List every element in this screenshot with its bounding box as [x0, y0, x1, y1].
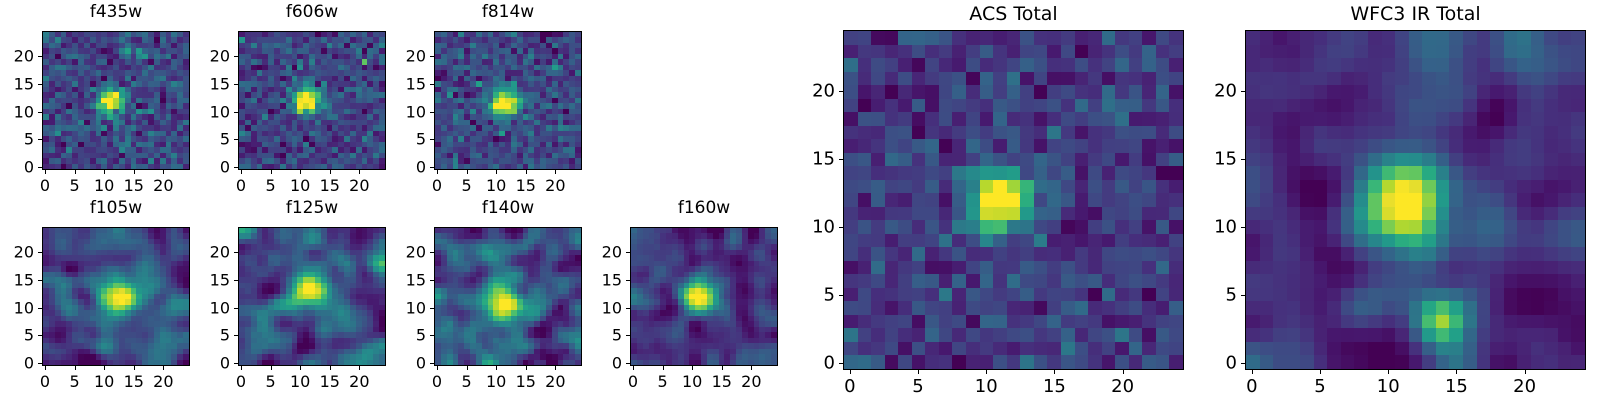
y-tick-label-f160w-10: 10: [588, 298, 622, 317]
y-tick-label-f606w-0: 0: [196, 158, 230, 177]
x-tick-label-f125w-15: 15: [320, 372, 340, 391]
y-tick-label-f105w-0: 0: [0, 354, 34, 373]
x-tick-label-f435w-20: 20: [153, 176, 173, 195]
x-tick-f125w-5: [271, 366, 272, 370]
x-tick-wfc3-ir-total-15: [1456, 370, 1457, 374]
x-tick-acs-total-10: [986, 370, 987, 374]
heatmap-axes-f606w: [238, 31, 386, 170]
panel-title-f105w: f105w: [42, 198, 190, 218]
panel-title-f160w: f160w: [630, 198, 778, 218]
y-tick-label-wfc3-ir-total-10: 10: [1203, 217, 1237, 238]
y-tick-label-f814w-10: 10: [392, 102, 426, 121]
y-tick-label-f814w-0: 0: [392, 158, 426, 177]
y-tick-f140w-10: [430, 308, 434, 309]
y-tick-label-acs-total-15: 15: [801, 149, 835, 170]
x-tick-f140w-20: [555, 366, 556, 370]
x-tick-label-f125w-20: 20: [349, 372, 369, 391]
x-tick-f814w-20: [555, 170, 556, 174]
y-tick-f125w-20: [234, 252, 238, 253]
x-tick-label-f105w-10: 10: [94, 372, 114, 391]
x-tick-f105w-20: [163, 366, 164, 370]
y-tick-f160w-15: [626, 280, 630, 281]
x-tick-acs-total-5: [918, 370, 919, 374]
panel-f435w: f435w0510152005101520: [0, 0, 190, 201]
x-tick-label-f814w-10: 10: [486, 176, 506, 195]
x-tick-f435w-20: [163, 170, 164, 174]
x-tick-f140w-15: [526, 366, 527, 370]
x-tick-label-f435w-15: 15: [124, 176, 144, 195]
x-tick-f160w-10: [692, 366, 693, 370]
heatmap-image-f125w: [239, 228, 385, 365]
y-tick-f125w-10: [234, 308, 238, 309]
x-tick-f606w-15: [330, 170, 331, 174]
y-tick-f105w-5: [38, 335, 42, 336]
y-tick-label-f435w-0: 0: [0, 158, 34, 177]
y-tick-f435w-10: [38, 112, 42, 113]
y-tick-f105w-15: [38, 280, 42, 281]
x-tick-label-f814w-15: 15: [516, 176, 536, 195]
x-tick-label-f105w-20: 20: [153, 372, 173, 391]
heatmap-image-wfc3-ir-total: [1246, 31, 1585, 369]
y-tick-label-f606w-10: 10: [196, 102, 230, 121]
y-tick-acs-total-5: [839, 295, 843, 296]
x-tick-label-f140w-20: 20: [545, 372, 565, 391]
x-tick-wfc3-ir-total-0: [1252, 370, 1253, 374]
x-tick-f814w-10: [496, 170, 497, 174]
x-tick-f125w-20: [359, 366, 360, 370]
heatmap-image-f160w: [631, 228, 777, 365]
y-tick-f125w-15: [234, 280, 238, 281]
panel-f125w: f125w0510152005101520: [196, 196, 386, 397]
y-tick-wfc3-ir-total-5: [1241, 295, 1245, 296]
y-tick-wfc3-ir-total-10: [1241, 227, 1245, 228]
panel-title-f606w: f606w: [238, 2, 386, 22]
y-tick-label-f435w-20: 20: [0, 47, 34, 66]
x-tick-label-f814w-20: 20: [545, 176, 565, 195]
x-tick-label-f435w-10: 10: [94, 176, 114, 195]
x-tick-label-f606w-5: 5: [265, 176, 275, 195]
heatmap-axes-f140w: [434, 227, 582, 366]
heatmap-image-f814w: [435, 32, 581, 169]
panel-title-f814w: f814w: [434, 2, 582, 22]
y-tick-f606w-5: [234, 139, 238, 140]
x-tick-f105w-5: [75, 366, 76, 370]
y-tick-f160w-20: [626, 252, 630, 253]
heatmap-image-f606w: [239, 32, 385, 169]
y-tick-f125w-0: [234, 363, 238, 364]
y-tick-f160w-0: [626, 363, 630, 364]
y-tick-label-f125w-0: 0: [196, 354, 230, 373]
panel-acs-total: ACS Total0510152005101520: [801, 0, 1184, 401]
y-tick-label-f814w-15: 15: [392, 74, 426, 93]
x-tick-f140w-0: [437, 366, 438, 370]
y-tick-label-f160w-5: 5: [588, 326, 622, 345]
y-tick-label-f606w-5: 5: [196, 130, 230, 149]
x-tick-label-f125w-5: 5: [265, 372, 275, 391]
y-tick-label-wfc3-ir-total-20: 20: [1203, 81, 1237, 102]
x-tick-label-acs-total-10: 10: [975, 376, 998, 397]
y-tick-label-f435w-5: 5: [0, 130, 34, 149]
x-tick-f125w-15: [330, 366, 331, 370]
x-tick-label-f606w-20: 20: [349, 176, 369, 195]
y-tick-label-f140w-10: 10: [392, 298, 426, 317]
heatmap-axes-f105w: [42, 227, 190, 366]
x-tick-label-f435w-5: 5: [69, 176, 79, 195]
x-tick-f606w-10: [300, 170, 301, 174]
y-tick-label-f125w-5: 5: [196, 326, 230, 345]
x-tick-f125w-0: [241, 366, 242, 370]
x-tick-label-f125w-0: 0: [236, 372, 246, 391]
x-tick-f606w-0: [241, 170, 242, 174]
heatmap-axes-f160w: [630, 227, 778, 366]
panel-title-acs-total: ACS Total: [843, 3, 1184, 25]
y-tick-label-f140w-5: 5: [392, 326, 426, 345]
x-tick-label-f814w-0: 0: [432, 176, 442, 195]
x-tick-f435w-0: [45, 170, 46, 174]
y-tick-wfc3-ir-total-20: [1241, 91, 1245, 92]
y-tick-label-f105w-5: 5: [0, 326, 34, 345]
panel-title-f125w: f125w: [238, 198, 386, 218]
x-tick-label-f160w-5: 5: [657, 372, 667, 391]
x-tick-f814w-0: [437, 170, 438, 174]
heatmap-axes-f435w: [42, 31, 190, 170]
y-tick-label-f435w-15: 15: [0, 74, 34, 93]
panel-f814w: f814w0510152005101520: [392, 0, 582, 201]
x-tick-f160w-0: [633, 366, 634, 370]
panel-f606w: f606w0510152005101520: [196, 0, 386, 201]
x-tick-label-f140w-10: 10: [486, 372, 506, 391]
y-tick-wfc3-ir-total-15: [1241, 159, 1245, 160]
panel-wfc3-ir-total: WFC3 IR Total0510152005101520: [1203, 0, 1586, 401]
y-tick-label-f105w-10: 10: [0, 298, 34, 317]
x-tick-f814w-15: [526, 170, 527, 174]
y-tick-label-f435w-10: 10: [0, 102, 34, 121]
x-tick-f105w-15: [134, 366, 135, 370]
x-tick-label-f105w-15: 15: [124, 372, 144, 391]
y-tick-label-f105w-20: 20: [0, 243, 34, 262]
x-tick-label-f105w-0: 0: [40, 372, 50, 391]
x-tick-label-f606w-10: 10: [290, 176, 310, 195]
panel-f105w: f105w0510152005101520: [0, 196, 190, 397]
y-tick-label-acs-total-10: 10: [801, 217, 835, 238]
x-tick-label-f160w-15: 15: [712, 372, 732, 391]
x-tick-label-wfc3-ir-total-20: 20: [1513, 376, 1536, 397]
x-tick-f606w-20: [359, 170, 360, 174]
y-tick-label-f140w-20: 20: [392, 243, 426, 262]
x-tick-label-f606w-0: 0: [236, 176, 246, 195]
y-tick-label-f105w-15: 15: [0, 270, 34, 289]
y-tick-f435w-0: [38, 167, 42, 168]
x-tick-label-f140w-5: 5: [461, 372, 471, 391]
y-tick-label-acs-total-20: 20: [801, 81, 835, 102]
y-tick-f160w-5: [626, 335, 630, 336]
y-tick-f105w-10: [38, 308, 42, 309]
y-tick-label-f125w-10: 10: [196, 298, 230, 317]
x-tick-f160w-20: [751, 366, 752, 370]
x-tick-f435w-10: [104, 170, 105, 174]
x-tick-label-wfc3-ir-total-10: 10: [1377, 376, 1400, 397]
y-tick-f606w-20: [234, 56, 238, 57]
panel-f160w: f160w0510152005101520: [588, 196, 778, 397]
heatmap-image-f435w: [43, 32, 189, 169]
y-tick-label-f160w-15: 15: [588, 270, 622, 289]
y-tick-f814w-0: [430, 167, 434, 168]
x-tick-f125w-10: [300, 366, 301, 370]
y-tick-label-f140w-15: 15: [392, 270, 426, 289]
y-tick-label-f140w-0: 0: [392, 354, 426, 373]
panel-title-f435w: f435w: [42, 2, 190, 22]
panel-title-wfc3-ir-total: WFC3 IR Total: [1245, 3, 1586, 25]
y-tick-label-f606w-15: 15: [196, 74, 230, 93]
y-tick-f606w-0: [234, 167, 238, 168]
y-tick-f140w-5: [430, 335, 434, 336]
x-tick-f160w-15: [722, 366, 723, 370]
y-tick-label-f814w-5: 5: [392, 130, 426, 149]
x-tick-f435w-15: [134, 170, 135, 174]
y-tick-f606w-10: [234, 112, 238, 113]
y-tick-f435w-15: [38, 84, 42, 85]
y-tick-label-f125w-20: 20: [196, 243, 230, 262]
x-tick-wfc3-ir-total-10: [1388, 370, 1389, 374]
y-tick-label-f606w-20: 20: [196, 47, 230, 66]
x-tick-label-acs-total-20: 20: [1111, 376, 1134, 397]
y-tick-label-wfc3-ir-total-15: 15: [1203, 149, 1237, 170]
y-tick-label-f814w-20: 20: [392, 47, 426, 66]
y-tick-acs-total-20: [839, 91, 843, 92]
x-tick-label-f814w-5: 5: [461, 176, 471, 195]
y-tick-f140w-15: [430, 280, 434, 281]
y-tick-f814w-5: [430, 139, 434, 140]
y-tick-acs-total-15: [839, 159, 843, 160]
y-tick-acs-total-10: [839, 227, 843, 228]
x-tick-label-f160w-20: 20: [741, 372, 761, 391]
x-tick-acs-total-20: [1123, 370, 1124, 374]
x-tick-label-acs-total-0: 0: [844, 376, 855, 397]
y-tick-label-f125w-15: 15: [196, 270, 230, 289]
heatmap-image-f105w: [43, 228, 189, 365]
x-tick-f105w-10: [104, 366, 105, 370]
heatmap-axes-wfc3-ir-total: [1245, 30, 1586, 370]
y-tick-f435w-20: [38, 56, 42, 57]
x-tick-acs-total-15: [1054, 370, 1055, 374]
x-tick-wfc3-ir-total-5: [1320, 370, 1321, 374]
x-tick-label-f140w-0: 0: [432, 372, 442, 391]
x-tick-f606w-5: [271, 170, 272, 174]
panel-f140w: f140w0510152005101520: [392, 196, 582, 397]
heatmap-image-acs-total: [844, 31, 1183, 369]
y-tick-f435w-5: [38, 139, 42, 140]
panel-title-f140w: f140w: [434, 198, 582, 218]
x-tick-label-f160w-10: 10: [682, 372, 702, 391]
x-tick-label-acs-total-5: 5: [912, 376, 923, 397]
y-tick-label-acs-total-5: 5: [801, 285, 835, 306]
x-tick-label-f606w-15: 15: [320, 176, 340, 195]
y-tick-f160w-10: [626, 308, 630, 309]
heatmap-axes-acs-total: [843, 30, 1184, 370]
x-tick-label-acs-total-15: 15: [1043, 376, 1066, 397]
y-tick-f140w-20: [430, 252, 434, 253]
y-tick-label-acs-total-0: 0: [801, 353, 835, 374]
y-tick-label-wfc3-ir-total-0: 0: [1203, 353, 1237, 374]
x-tick-f814w-5: [467, 170, 468, 174]
x-tick-acs-total-0: [850, 370, 851, 374]
x-tick-f105w-0: [45, 366, 46, 370]
x-tick-label-f105w-5: 5: [69, 372, 79, 391]
x-tick-label-f435w-0: 0: [40, 176, 50, 195]
x-tick-label-wfc3-ir-total-0: 0: [1246, 376, 1257, 397]
y-tick-acs-total-0: [839, 363, 843, 364]
y-tick-f125w-5: [234, 335, 238, 336]
x-tick-label-f160w-0: 0: [628, 372, 638, 391]
x-tick-label-f140w-15: 15: [516, 372, 536, 391]
y-tick-f814w-20: [430, 56, 434, 57]
heatmap-axes-f814w: [434, 31, 582, 170]
y-tick-f606w-15: [234, 84, 238, 85]
x-tick-wfc3-ir-total-20: [1525, 370, 1526, 374]
y-tick-f105w-20: [38, 252, 42, 253]
x-tick-label-wfc3-ir-total-5: 5: [1314, 376, 1325, 397]
figure-canvas: f435w0510152005101520f606w05101520051015…: [0, 0, 1600, 400]
heatmap-axes-f125w: [238, 227, 386, 366]
x-tick-f160w-5: [663, 366, 664, 370]
y-tick-f814w-15: [430, 84, 434, 85]
y-tick-label-f160w-0: 0: [588, 354, 622, 373]
x-tick-f435w-5: [75, 170, 76, 174]
y-tick-f105w-0: [38, 363, 42, 364]
heatmap-image-f140w: [435, 228, 581, 365]
x-tick-label-f125w-10: 10: [290, 372, 310, 391]
x-tick-f140w-10: [496, 366, 497, 370]
y-tick-f140w-0: [430, 363, 434, 364]
y-tick-label-f160w-20: 20: [588, 243, 622, 262]
y-tick-f814w-10: [430, 112, 434, 113]
y-tick-wfc3-ir-total-0: [1241, 363, 1245, 364]
x-tick-f140w-5: [467, 366, 468, 370]
y-tick-label-wfc3-ir-total-5: 5: [1203, 285, 1237, 306]
x-tick-label-wfc3-ir-total-15: 15: [1445, 376, 1468, 397]
